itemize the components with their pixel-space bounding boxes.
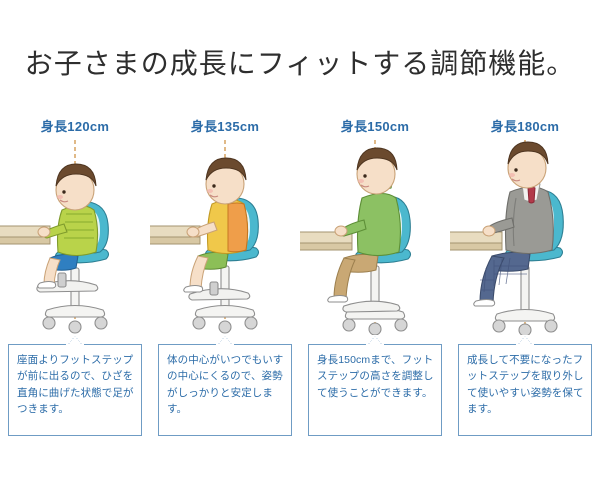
panel-150cm: 身長150cm (300, 112, 450, 452)
chair-base-assembly (343, 266, 407, 335)
height-label-120cm: 身長120cm (0, 116, 150, 135)
height-label-135cm: 身長135cm (150, 116, 300, 135)
callout-text-135cm: 体の中心がいつでもいすの中心にくるので、姿勢がしっかりと安定します。 (159, 345, 291, 417)
height-label-180cm: 身長180cm (450, 116, 600, 135)
panel-120cm: 身長120cm (0, 112, 150, 452)
foot-step-lowered (343, 301, 400, 312)
illustration-adult-180cm (450, 140, 600, 335)
child-head (206, 158, 246, 204)
callout-box-180cm: 成長して不要になったフットステップを取り外して使いやすい姿勢を保てます。 (458, 344, 592, 436)
callout-box-150cm: 身長150cmまで、フットステップの高さを調整して使うことができます。 (308, 344, 442, 436)
callout-box-120cm: 座面よりフットステップが前に出るので、ひざを直角に曲げた状態で足がつきます。 (8, 344, 142, 436)
illustration-child-120cm (0, 140, 150, 335)
chair-base-assembly-no-footstep (493, 266, 557, 335)
child-head (56, 164, 96, 210)
teen-head (357, 148, 397, 194)
callout-text-150cm: 身長150cmまで、フットステップの高さを調整して使うことができます。 (309, 345, 441, 401)
panel-135cm: 身長135cm (150, 112, 300, 452)
callout-text-180cm: 成長して不要になったフットステップを取り外して使いやすい姿勢を保てます。 (459, 345, 591, 417)
illustration-teen-150cm (300, 140, 450, 335)
height-label-150cm: 身長150cm (300, 116, 450, 135)
desk-slab (450, 232, 502, 250)
callout-text-120cm: 座面よりフットステップが前に出るので、ひざを直角に曲げた状態で足がつきます。 (9, 345, 141, 417)
panel-180cm: 身長180cm (450, 112, 600, 452)
callout-box-135cm: 体の中心がいつでもいすの中心にくるので、姿勢がしっかりと安定します。 (158, 344, 292, 436)
adult-head (508, 142, 548, 188)
illustration-child-135cm (150, 140, 300, 335)
page-title: お子さまの成長にフィットする調節機能。 (0, 42, 600, 82)
panel-row: 身長120cm (0, 112, 600, 452)
adult-torso-suit (506, 182, 554, 254)
infographic-page: お子さまの成長にフィットする調節機能。 身長120cm (0, 0, 600, 480)
